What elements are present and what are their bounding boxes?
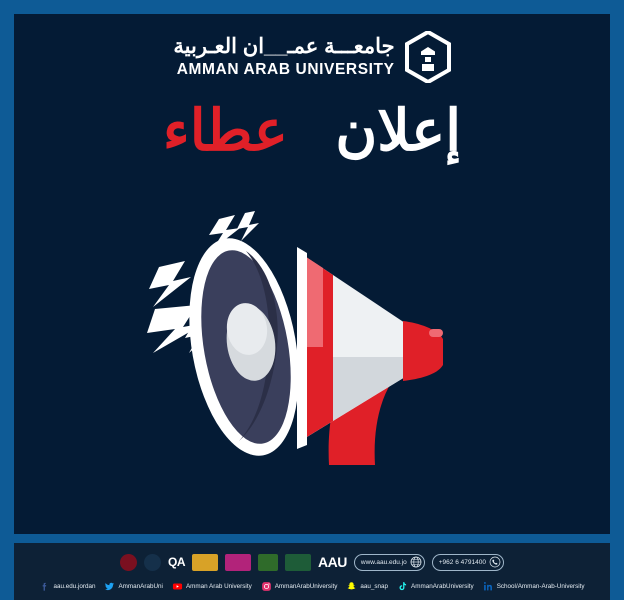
website-pill[interactable]: www.aau.edu.jo <box>354 554 425 571</box>
youtube-icon <box>172 581 183 592</box>
megaphone-icon <box>147 197 477 487</box>
hexagon-arch-icon <box>405 31 451 83</box>
accreditation-badge-shield <box>120 554 137 571</box>
social-link-snapchat[interactable]: aau_snap <box>346 581 388 592</box>
social-handle-youtube: Amman Arab University <box>186 583 252 590</box>
accreditation-badge-tie <box>225 554 251 571</box>
megaphone-illustration <box>14 192 610 492</box>
accreditation-badge-aau: AAU <box>318 554 347 570</box>
page-title: إعلان عطاء <box>14 98 610 164</box>
social-link-youtube[interactable]: Amman Arab University <box>172 581 252 592</box>
accreditation-badge-green <box>285 554 311 571</box>
social-link-instagram[interactable]: AmmanArabUniversity <box>261 581 338 592</box>
linkedin-icon <box>483 581 494 592</box>
footer: QA AAU www.aau.edu.jo <box>14 543 610 600</box>
social-handle-facebook: aau.edu.jordan <box>53 583 95 590</box>
headline-word-announcement: إعلان <box>335 99 461 163</box>
university-logo: جامعـــة عمـ__ان العـربية AMMAN ARAB UNI… <box>173 31 450 83</box>
social-handle-snapchat: aau_snap <box>360 583 388 590</box>
poster: جامعـــة عمـ__ان العـربية AMMAN ARAB UNI… <box>0 0 624 600</box>
megaphone-nozzle-highlight <box>429 329 443 337</box>
social-handle-tiktok: AmmanArabUniversity <box>411 583 474 590</box>
tiktok-icon <box>397 581 408 592</box>
social-handle-linkedin: School/Amman-Arab-University <box>497 583 585 590</box>
social-link-twitter[interactable]: AmmanArabUni <box>104 581 162 592</box>
accreditation-badge-unibz <box>258 554 278 571</box>
accreditation-row: QA AAU www.aau.edu.jo <box>14 552 610 572</box>
logo-text: جامعـــة عمـ__ان العـربية AMMAN ARAB UNI… <box>173 36 394 78</box>
social-link-tiktok[interactable]: AmmanArabUniversity <box>397 581 474 592</box>
accreditation-badge-university-ranking <box>192 554 218 571</box>
phone-text: +962 6 4791400 <box>439 559 486 566</box>
poster-canvas: جامعـــة عمـ__ان العـربية AMMAN ARAB UNI… <box>14 14 610 600</box>
footer-divider <box>14 534 610 543</box>
megaphone-rim-inner <box>297 247 307 449</box>
snapchat-icon <box>346 581 357 592</box>
social-link-facebook[interactable]: aau.edu.jordan <box>39 581 95 592</box>
facebook-icon <box>39 581 50 592</box>
website-text: www.aau.edu.jo <box>361 559 407 566</box>
logo-name-arabic: جامعـــة عمـ__ان العـربية <box>173 36 394 57</box>
phone-icon <box>489 556 501 568</box>
headline-word-tender: عطاء <box>163 99 288 163</box>
social-handle-instagram: AmmanArabUniversity <box>275 583 338 590</box>
accreditation-badge-seal <box>144 554 161 571</box>
logo-name-english: AMMAN ARAB UNIVERSITY <box>177 62 395 78</box>
accreditation-badge-qa: QA <box>168 555 185 569</box>
instagram-icon <box>261 581 272 592</box>
phone-pill[interactable]: +962 6 4791400 <box>432 554 504 571</box>
header: جامعـــة عمـ__ان العـربية AMMAN ARAB UNI… <box>14 20 610 94</box>
twitter-icon <box>104 581 115 592</box>
social-links-row: aau.edu.jordan AmmanArabUni Amman Arab U… <box>14 576 610 596</box>
social-link-linkedin[interactable]: School/Amman-Arab-University <box>483 581 585 592</box>
globe-icon <box>410 556 422 568</box>
social-handle-twitter: AmmanArabUni <box>118 583 162 590</box>
